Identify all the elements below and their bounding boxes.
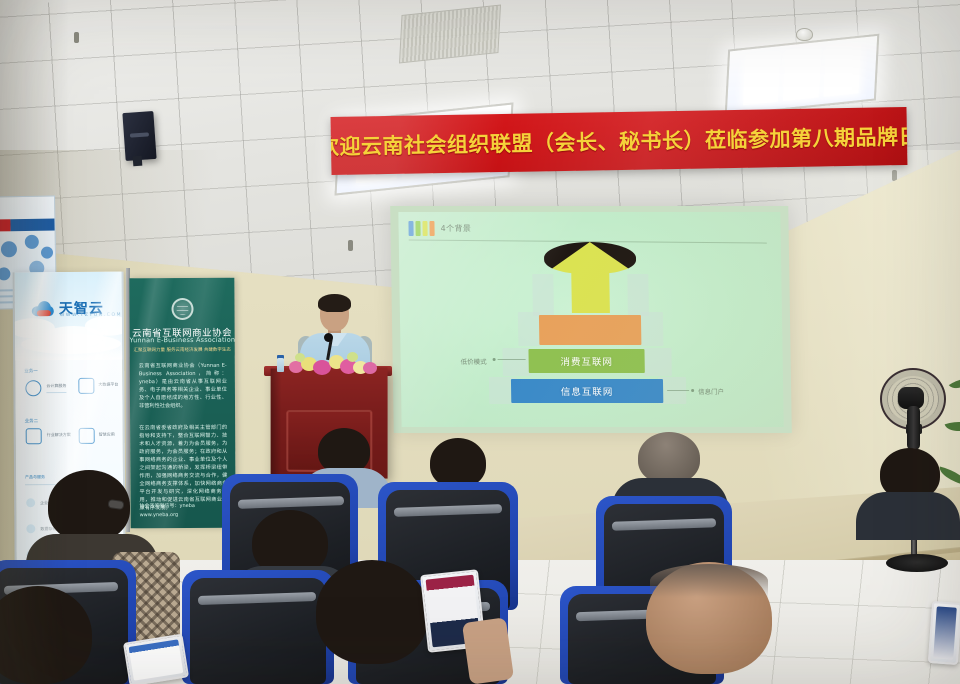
pyramid-annotation-right: 信息门户 (698, 386, 724, 396)
poster-feature-label-4: 智慧应用 (99, 432, 115, 438)
pyramid-band-2: 消费互联网 (528, 349, 644, 373)
presenter-hair (318, 294, 351, 312)
tzyun-cloud-logo-icon (32, 301, 54, 316)
poster-notes-heading: 产品与服务 (25, 474, 45, 480)
audience-head-back-2 (430, 438, 486, 488)
poster-feature-icon-1 (25, 380, 41, 396)
association-contact: 协会咨询微信号：ynebа (140, 502, 228, 509)
ceiling-sprinkler-icon-2 (348, 240, 353, 251)
projection-screen: 4个背景 消费互联网 (390, 206, 792, 433)
water-bottle (277, 358, 284, 372)
poster-feature-label-3: 行业解决方案 (47, 432, 71, 438)
welcome-banner-text: 热烈欢迎云南社会组织联盟（会长、秘书长）莅临参加第八期品牌日活动 (331, 120, 908, 162)
podium-side-shadow (271, 368, 282, 477)
poster-feature-icon-2 (78, 378, 94, 394)
pyramid-annotation-right-leader (667, 390, 689, 391)
pyramid-annotation-right-dot (691, 389, 694, 392)
pyramid-diagram: 消费互联网 信息互联网 低价模式 信息门户 (398, 212, 783, 427)
association-website: www.ynebа.org (140, 512, 228, 518)
ceiling-sprinkler-icon-1 (74, 32, 79, 43)
association-banner: 云南省互联网商业协会 Yunnan E-Business Association… (129, 278, 235, 529)
association-subtitle: Yunnan E-Business Association (130, 336, 235, 345)
welcome-banner: 热烈欢迎云南社会组织联盟（会长、秘书长）莅临参加第八期品牌日活动 (331, 107, 908, 175)
pyramid-band-1 (539, 315, 641, 345)
pyramid-wing-3-left (502, 348, 530, 376)
poster-feature-label-1: 云计算服务 (46, 383, 66, 389)
pyramid-wing-2-left (518, 312, 541, 346)
pyramid-band-2-label: 消费互联网 (560, 354, 613, 368)
poster-feature-icon-4 (79, 428, 95, 444)
audience-hair-fringe-front-right (650, 564, 768, 598)
conference-room-photo: 热烈欢迎云南社会组织联盟（会长、秘书长）莅临参加第八期品牌日活动 4个背景 (0, 0, 960, 684)
pyramid-annotation-left: 低价模式 (461, 356, 487, 366)
pyramid-top-arrow (544, 242, 637, 312)
poster-section-label-2: 业务二 (25, 418, 39, 424)
tzyun-logo-url: WWW.TZYUN.COM (60, 313, 122, 318)
presentation-slide: 4个背景 消费互联网 (398, 212, 783, 427)
wall-speaker-bracket (133, 156, 143, 167)
pyramid-wing-3-right (643, 348, 671, 376)
association-emblem-icon (171, 298, 193, 320)
pyramid-band-3: 信息互联网 (511, 379, 663, 403)
pyramid-annotation-left-dot (493, 358, 496, 361)
audience-hand-holding-tablet (462, 617, 514, 684)
microphone-icon (324, 333, 333, 342)
audience-head-front-mid (316, 560, 428, 664)
poster-secondary-blue-bar (10, 218, 56, 231)
association-paragraph-2: 在云南省委省政府及相关主管部门的指导和支持下，整合互联网智力、技术和人才资源，着… (139, 424, 227, 512)
audience-shoulder-back-4 (856, 492, 960, 540)
poster-section-label-1: 业务一 (24, 368, 38, 374)
wall-speaker-icon (122, 111, 156, 161)
audience-head-back-3 (638, 432, 700, 484)
smartphone-device-1[interactable] (123, 634, 189, 684)
fan-neck (907, 406, 920, 450)
poster-feature-label-2: 大数据平台 (98, 382, 118, 388)
poster-secondary-red-tab (0, 219, 11, 231)
pyramid-annotation-left-leader (498, 359, 526, 360)
smartphone-device-2[interactable] (928, 601, 960, 665)
fan-base (886, 554, 948, 572)
poster-feature-icon-3 (26, 428, 42, 444)
podium-flower-arrangement (285, 350, 381, 376)
association-tagline: 汇聚互联网力量 服务云南经济发展 共建数字生态 (130, 347, 235, 354)
ceiling-smoke-detector-icon (796, 28, 813, 41)
pyramid-band-3-label: 信息互联网 (561, 384, 614, 398)
association-paragraph-1: 云南省互联网商业协会（Yunnan E-Business Association… (139, 362, 227, 410)
pyramid-wing-2-right (641, 312, 664, 346)
